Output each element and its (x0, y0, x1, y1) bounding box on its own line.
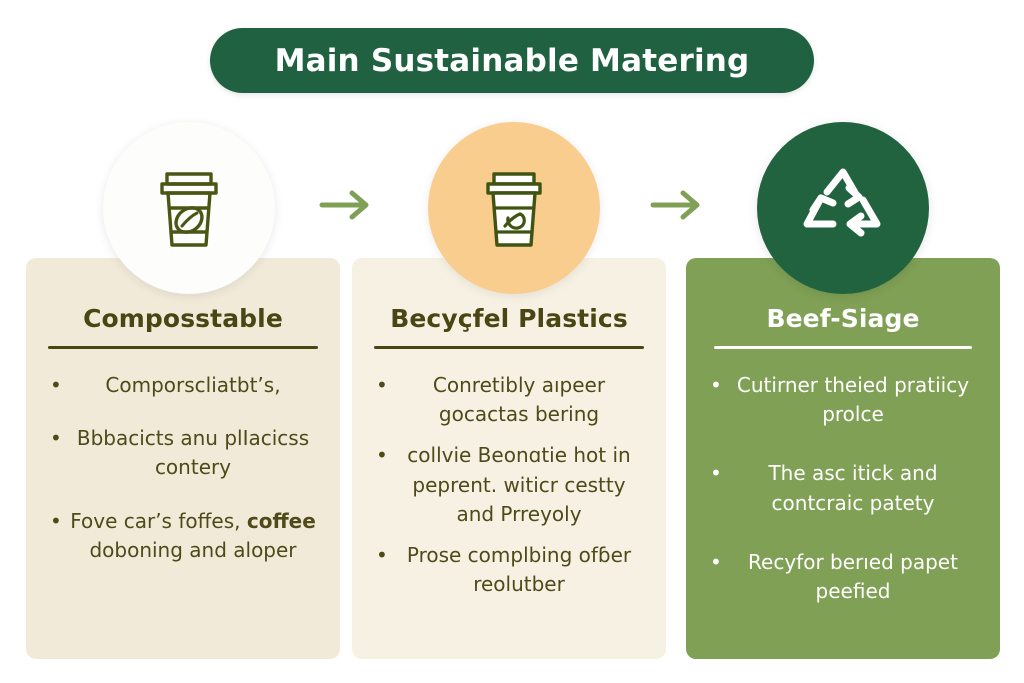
list-item-emphasis: coffee (247, 509, 316, 533)
step-icon-circle-recycled (428, 122, 600, 294)
card-heading-compostable: Composstable (48, 304, 318, 333)
card-compostable: Composstable Comporscliatbt’s, Bbbacicts… (26, 258, 340, 659)
card-heading-recycled-plastics: Becyçfel Plastics (374, 304, 644, 333)
card-reuse: Beef-Siage Cutirner theied pratiicy prol… (686, 258, 1000, 659)
step-icon-circle-reuse (757, 122, 929, 294)
list-item: Cutirner theied pratiicy prolce (708, 371, 978, 429)
list-item: Prose complbing ofɓer reolutber (374, 541, 644, 599)
heading-divider (374, 346, 644, 349)
card-recycled-plastics: Becyçfel Plastics Conretibly aıpeer goca… (352, 258, 666, 659)
list-item: Bbbacicts anu plIacicss contery (48, 424, 318, 482)
list-item: The asc itick and contcraic patety (708, 459, 978, 517)
bullet-list-compostable: Comporscliatbt’s, Bbbacicts anu plIacics… (48, 371, 318, 565)
coffee-cup-leaf-icon (462, 156, 566, 260)
bullet-list-reuse: Cutirner theied pratiicy prolce The asc … (708, 371, 978, 606)
heading-divider (714, 346, 972, 349)
list-item: Recyfor berıed papet peefied (708, 548, 978, 606)
page-title-banner: Main Sustainable Matering (210, 28, 814, 93)
arrow-compostable-to-recycled (316, 186, 378, 224)
recycle-icon (789, 154, 897, 262)
step-icon-circle-compostable (103, 122, 275, 294)
arrow-recycled-to-reuse (647, 186, 709, 224)
page-title: Main Sustainable Matering (275, 43, 750, 79)
list-item: Comporscliatbt’s, (48, 371, 318, 400)
coffee-cup-leaf-icon (137, 156, 241, 260)
heading-divider (48, 346, 318, 349)
list-item: Conretibly aıpeer gocactas bering (374, 371, 644, 429)
list-item-tail: doboning and aloper (89, 538, 296, 562)
list-item-lead: Fove car’s foffes, (70, 509, 240, 533)
list-item: collvie Beonɑtie hot in peprent. witicr … (374, 441, 644, 529)
bullet-list-recycled-plastics: Conretibly aıpeer gocactas bering collvi… (374, 371, 644, 599)
list-item: Fove car’s foffes, coffee doboning and a… (48, 507, 318, 565)
card-heading-reuse: Beef-Siage (708, 304, 978, 333)
